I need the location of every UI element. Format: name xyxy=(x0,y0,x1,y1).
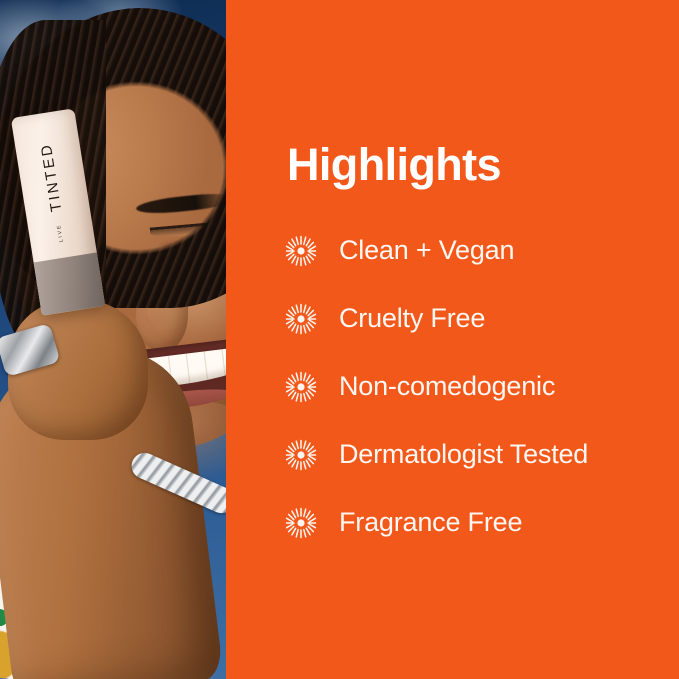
highlights-list: Clean + Vegan xyxy=(285,228,665,568)
tube-cap xyxy=(34,252,106,315)
page-title: Highlights xyxy=(287,142,501,187)
list-item: Fragrance Free xyxy=(285,500,665,545)
list-item: Non-comedogenic xyxy=(285,364,665,409)
sunburst-icon xyxy=(285,371,317,403)
sunburst-icon xyxy=(285,507,317,539)
highlight-label: Non-comedogenic xyxy=(339,373,555,400)
list-item: Dermatologist Tested xyxy=(285,432,665,477)
list-item: Clean + Vegan xyxy=(285,228,665,273)
highlights-panel: Highlights xyxy=(226,0,679,679)
list-item: Cruelty Free xyxy=(285,296,665,341)
sunburst-icon xyxy=(285,303,317,335)
highlight-label: Dermatologist Tested xyxy=(339,441,588,468)
highlight-label: Clean + Vegan xyxy=(339,237,514,264)
sunburst-icon xyxy=(285,235,317,267)
highlight-label: Fragrance Free xyxy=(339,509,522,536)
highlight-label: Cruelty Free xyxy=(339,305,485,332)
product-highlights-banner: TINTED LIVE HUEGUARD® TINT 3-in-1 Tint S… xyxy=(0,0,679,679)
sunburst-icon xyxy=(285,439,317,471)
product-hero-photo: TINTED LIVE HUEGUARD® TINT 3-in-1 Tint S… xyxy=(0,0,226,679)
tube-brand-label: TINTED xyxy=(33,112,70,243)
